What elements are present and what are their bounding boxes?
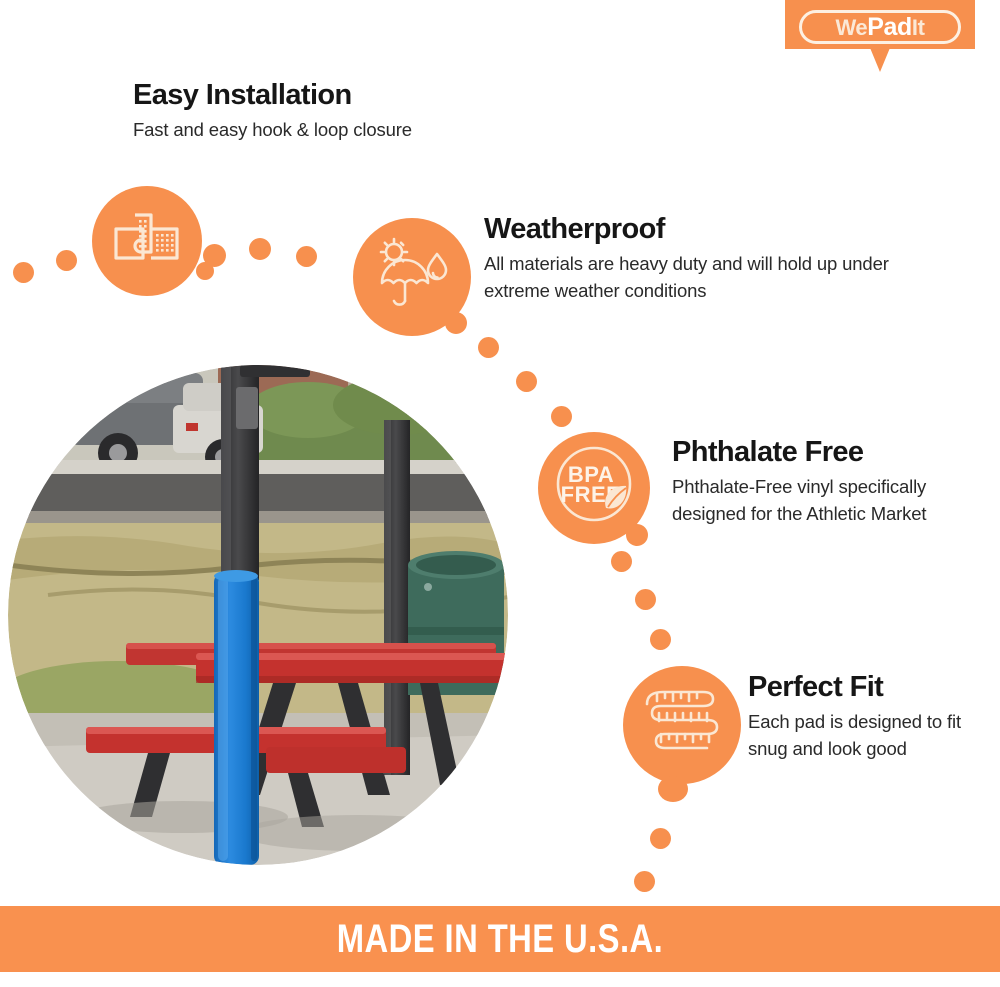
- made-in-usa-banner: MADE IN THE U.S.A.: [0, 906, 1000, 972]
- product-photo: [8, 365, 508, 865]
- feature-text-perfect-fit: Perfect Fit Each pad is designed to fit …: [748, 672, 988, 762]
- umbrella-sun-rain-icon: [372, 237, 452, 318]
- trail-dot: [296, 246, 317, 267]
- icon-blob-easy-installation: [196, 262, 214, 280]
- product-photo-illustration: [8, 365, 508, 865]
- feature-body-easy-installation: Fast and easy hook & loop closure: [133, 117, 553, 143]
- feature-title-easy-installation: Easy Installation: [133, 80, 553, 110]
- feature-text-weatherproof: Weatherproof All materials are heavy dut…: [484, 214, 904, 304]
- trail-dot: [249, 238, 271, 260]
- trail-dot: [635, 589, 656, 610]
- icon-blob-perfect-fit: [658, 776, 688, 802]
- trail-dot: [650, 828, 671, 849]
- trail-dot: [611, 551, 632, 572]
- trail-dot: [516, 371, 537, 392]
- feature-title-weatherproof: Weatherproof: [484, 214, 904, 244]
- infographic-canvas: WePadIt Easy Installation Fast and easy …: [0, 0, 1000, 987]
- feature-body-weatherproof: All materials are heavy duty and will ho…: [484, 251, 904, 304]
- logo-text-we: We: [835, 15, 867, 40]
- logo-outline-frame: WePadIt: [799, 10, 961, 44]
- logo-wordmark: WePadIt: [835, 15, 924, 40]
- feature-body-phthalate-free: Phthalate-Free vinyl specifically design…: [672, 474, 982, 527]
- trail-dot: [650, 629, 671, 650]
- icon-blob-weatherproof: [445, 312, 467, 334]
- logo-text-pad: Pad: [867, 13, 912, 41]
- feature-text-easy-installation: Easy Installation Fast and easy hook & l…: [133, 80, 553, 144]
- trail-dot: [56, 250, 77, 271]
- feature-icon-perfect-fit[interactable]: [623, 666, 741, 784]
- bpa-free-leaf-icon: BPA FREE: [544, 436, 644, 541]
- icon-blob-phthalate-free: [626, 524, 648, 546]
- hook-and-loop-icon: [111, 207, 183, 276]
- feature-title-perfect-fit: Perfect Fit: [748, 672, 988, 702]
- measuring-tape-icon: [639, 682, 725, 769]
- logo-text-it: It: [912, 15, 925, 40]
- feature-body-perfect-fit: Each pad is designed to fit snug and loo…: [748, 709, 988, 762]
- feature-icon-easy-installation[interactable]: [92, 186, 202, 296]
- trail-dot: [478, 337, 499, 358]
- trail-dot: [634, 871, 655, 892]
- brand-logo[interactable]: WePadIt: [785, 0, 975, 72]
- trail-dot: [13, 262, 34, 283]
- trail-dot: [551, 406, 572, 427]
- made-in-usa-text: MADE IN THE U.S.A.: [337, 917, 663, 962]
- feature-title-phthalate-free: Phthalate Free: [672, 437, 982, 467]
- feature-text-phthalate-free: Phthalate Free Phthalate-Free vinyl spec…: [672, 437, 982, 527]
